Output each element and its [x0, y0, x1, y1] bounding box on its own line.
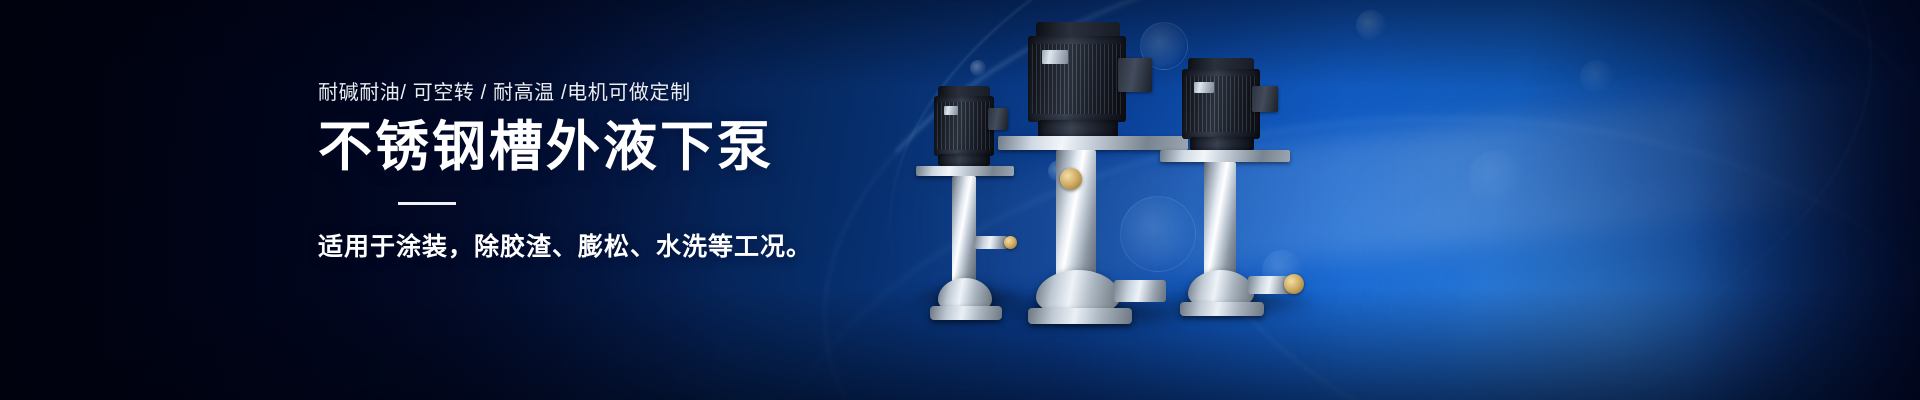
hero-banner: 耐碱耐油/ 可空转 / 耐高温 /电机可做定制 不锈钢槽外液下泵 适用于涂装，除… — [0, 0, 1920, 400]
motor-base-flange — [1190, 137, 1254, 151]
nameplate — [1042, 50, 1068, 64]
pump-foot — [930, 306, 1002, 320]
pump-column — [1204, 162, 1236, 286]
product-image-group — [880, 0, 1920, 400]
hero-copy: 耐碱耐油/ 可空转 / 耐高温 /电机可做定制 不锈钢槽外液下泵 适用于涂装，除… — [318, 78, 958, 265]
pump-foot — [1028, 308, 1132, 324]
terminal-box — [1118, 58, 1152, 92]
hero-tagline: 适用于涂装，除胶渣、膨松、水洗等工况。 — [318, 229, 958, 265]
pump-medium-right — [1156, 58, 1326, 310]
brass-fitting — [1060, 168, 1082, 190]
terminal-box — [1252, 86, 1278, 112]
page-title: 不锈钢槽外液下泵 — [318, 114, 958, 180]
divider-rule — [398, 202, 456, 205]
mounting-plate — [1160, 150, 1290, 162]
brass-fitting — [1284, 274, 1304, 294]
nameplate — [1194, 82, 1214, 93]
hero-eyebrow: 耐碱耐油/ 可空转 / 耐高温 /电机可做定制 — [318, 78, 958, 108]
pump-foot — [1180, 302, 1264, 316]
